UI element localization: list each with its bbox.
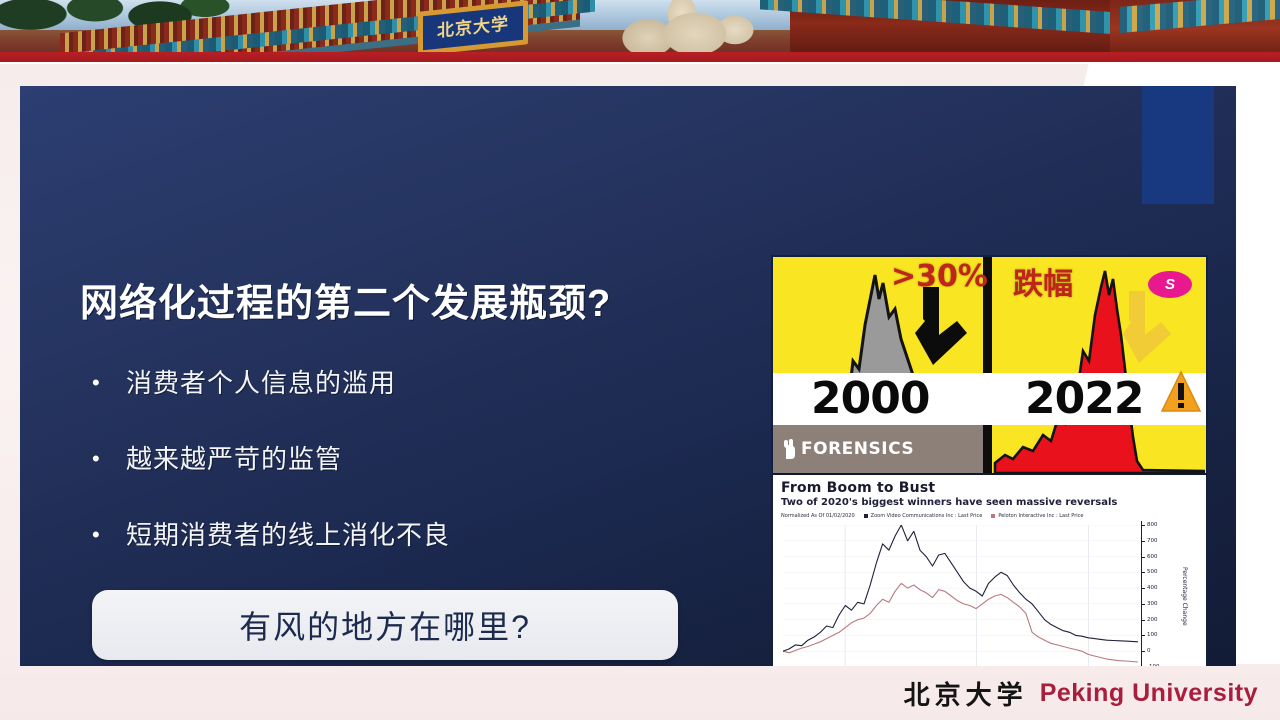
header-photo-banner: 北京大学 (0, 0, 1280, 62)
chart-legend: Normalized As Of 01/02/2020 Zoom Video C… (781, 513, 1092, 519)
legend-label-peloton: Peloton Interactive Inc : Last Price (998, 513, 1083, 519)
y-tick-label-800: 800 (1147, 522, 1158, 528)
decline-label: 跌幅 (1013, 259, 1073, 303)
y-tick-label-0: 0 (1147, 648, 1151, 654)
university-name-en: Peking University (1040, 679, 1258, 708)
s-badge-icon: S (1148, 271, 1192, 298)
legend-entry-peloton: Peloton Interactive Inc : Last Price (991, 513, 1083, 519)
chart-y-axis: 8007006005004003002001000-100 (1141, 521, 1181, 666)
y-tick-mark (1141, 572, 1145, 573)
image-collage: >30% 跌幅 2000 2022 FORENSICS S (771, 255, 1208, 666)
footer-branding: 北京大学 Peking University (0, 666, 1280, 720)
y-axis-label: Percentage Change (1181, 567, 1188, 626)
down-arrow-icon (913, 285, 975, 367)
y-tick-mark (1141, 557, 1145, 558)
callout-text: 有风的地方在哪里? (239, 602, 531, 648)
y-axis-line (1141, 521, 1142, 666)
chart-plot-area (783, 525, 1138, 666)
y-tick-label-600: 600 (1147, 554, 1158, 560)
warning-triangle-icon (1160, 369, 1202, 415)
forensics-watermark: FORENSICS (773, 425, 983, 473)
y-tick-mark (1141, 541, 1145, 542)
legend-normalized-text: Normalized As Of 01/02/2020 (781, 513, 855, 519)
meme-comparison-image: >30% 跌幅 2000 2022 FORENSICS S (773, 257, 1206, 473)
bullet-text: 消费者个人信息的滥用 (126, 368, 396, 398)
percent-drop-label: >30% (891, 259, 988, 294)
page-title: 网络化过程的第二个发展瓶颈? (80, 272, 611, 327)
y-tick-mark (1141, 588, 1145, 589)
y-tick-label-700: 700 (1147, 538, 1158, 544)
y-tick-mark (1141, 620, 1145, 621)
university-name-cn: 北京大学 (904, 675, 1028, 712)
legend-swatch-zoom (864, 514, 868, 518)
down-arrow-secondary-icon (1121, 289, 1177, 365)
list-item: • 越来越严苛的监管 (92, 444, 732, 474)
y-tick-label-100: 100 (1147, 632, 1158, 638)
y-tick-mark (1141, 525, 1145, 526)
callout-box: 有风的地方在哪里? (92, 590, 678, 660)
y-tick-mark (1141, 635, 1145, 636)
legend-normalized-note: Normalized As Of 01/02/2020 (781, 513, 855, 519)
y-tick-label-300: 300 (1147, 601, 1158, 607)
legend-entry-zoom: Zoom Video Communications Inc : Last Pri… (864, 513, 983, 519)
gate-plaque-text: 北京大学 (437, 16, 509, 41)
hand-icon (781, 439, 796, 459)
bullet-text: 短期消费者的线上消化不良 (126, 520, 450, 550)
slide-page: 北京大学 网络化过程的第二个发展瓶颈? (0, 0, 1280, 720)
bullet-dot-icon: • (92, 368, 126, 398)
presentation-slide: 网络化过程的第二个发展瓶颈? • 消费者个人信息的滥用 • 越来越严苛的监管 •… (20, 86, 1236, 666)
legend-label-zoom: Zoom Video Communications Inc : Last Pri… (871, 513, 983, 519)
y-tick-label-500: 500 (1147, 569, 1158, 575)
y-tick-mark (1141, 604, 1145, 605)
bullet-dot-icon: • (92, 444, 126, 474)
y-tick-label-200: 200 (1147, 617, 1158, 623)
bloomberg-chart: From Boom to Bust Two of 2020's biggest … (773, 475, 1206, 666)
list-item: • 消费者个人信息的滥用 (92, 368, 732, 398)
year-label-left: 2000 (811, 373, 929, 425)
y-tick-label-400: 400 (1147, 585, 1158, 591)
accent-block (1142, 86, 1214, 204)
list-item: • 短期消费者的线上消化不良 (92, 520, 732, 550)
y-tick-mark (1141, 651, 1145, 652)
red-divider-bar (0, 52, 1280, 62)
year-label-right: 2022 (1025, 373, 1143, 425)
chart-title: From Boom to Bust (781, 480, 935, 496)
chart-subtitle: Two of 2020's biggest winners have seen … (781, 497, 1117, 508)
legend-swatch-peloton (991, 514, 995, 518)
bullet-list: • 消费者个人信息的滥用 • 越来越严苛的监管 • 短期消费者的线上消化不良 (92, 368, 732, 596)
forensics-label: FORENSICS (801, 439, 914, 459)
bullet-dot-icon: • (92, 520, 126, 550)
bullet-text: 越来越严苛的监管 (126, 444, 342, 474)
